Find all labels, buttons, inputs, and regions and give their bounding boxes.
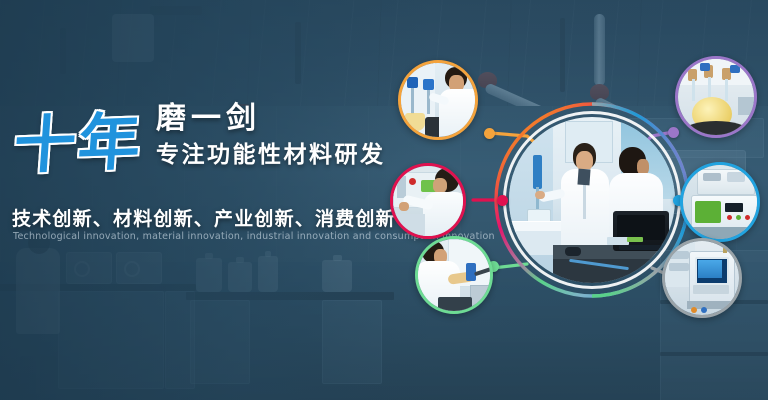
node-dot-top-left: [484, 128, 495, 139]
node-synthesis[interactable]: [398, 60, 478, 140]
center-hero-photo: [509, 117, 675, 283]
bubble5-indicator: [736, 215, 741, 220]
hero-apparatus: [533, 155, 542, 189]
node-glassware[interactable]: [675, 56, 757, 138]
bubble6-antenna: [723, 243, 727, 253]
promo-banner: 十年 磨一剑 专注功能性材料研发 技术创新、材料创新、产业创新、消费创新 Tec…: [0, 0, 768, 400]
headline-sub-line-2: 专注功能性材料研发: [156, 140, 386, 171]
bubble6-shelf-item: [669, 251, 689, 259]
bubble4-blue-clamp: [730, 65, 740, 73]
hero-keyboard: [619, 245, 671, 250]
node-testing[interactable]: [390, 163, 466, 239]
tagline-zh: 技术创新、材料创新、产业创新、消费创新: [12, 204, 396, 231]
headline-sub-line-1: 磨一剑: [156, 102, 386, 136]
bubble5-roller: [727, 172, 745, 182]
bubble1-flask: [405, 113, 425, 131]
bubble2-person-face: [433, 178, 447, 193]
bubble6-indicator: [691, 307, 697, 313]
bubble6-keypad: [693, 285, 729, 294]
bubble5-green-panel: [695, 201, 721, 223]
node-instrument[interactable]: [680, 162, 760, 242]
circle-cluster: [390, 28, 768, 400]
hero-green-marker: [627, 237, 643, 242]
node-sampling[interactable]: [415, 236, 493, 314]
hero-mouse: [565, 247, 581, 256]
brush-headline: 十年: [12, 110, 145, 176]
bubble5-roller: [703, 173, 721, 181]
bubble5-digital-display: [725, 203, 743, 212]
bubble1-stand: [411, 88, 414, 114]
bubble3-bench-dark: [438, 297, 472, 314]
hero-person-a-hand: [535, 191, 545, 199]
hero-desk-front: [553, 259, 675, 283]
bubble5-indicator: [745, 215, 750, 220]
bubble2-indicator: [409, 178, 416, 185]
bubble5-indicator: [727, 215, 732, 220]
bubble2-bench: [393, 214, 425, 239]
bubble6-indicator: [701, 307, 707, 313]
bubble1-valve: [423, 79, 434, 90]
headline-sub-group: 磨一剑 专注功能性材料研发: [156, 102, 386, 175]
headline-block: 十年 磨一剑 专注功能性材料研发 技术创新、材料创新、产业创新、消费创新 Tec…: [0, 0, 400, 400]
bubble4-glass-neck: [692, 79, 695, 101]
bubble4-glass-neck: [725, 79, 728, 101]
node-analyzer[interactable]: [662, 238, 742, 318]
bubble2-machine-part: [397, 176, 406, 198]
bubble2-person-hand: [399, 202, 409, 211]
hero-person-a-collar: [577, 169, 590, 186]
bubble2-person-coat: [423, 192, 466, 239]
bubble6-screen: [698, 260, 722, 278]
node-dot-left: [497, 195, 508, 206]
hero-papers: [607, 237, 629, 245]
bubble3-cabinet: [470, 285, 493, 314]
bubble4-blue-clamp: [700, 63, 710, 71]
headline-row: 十年 磨一剑 专注功能性材料研发: [14, 102, 386, 175]
bubble1-valve: [407, 77, 418, 88]
bubble6-shelf-item: [669, 263, 689, 271]
